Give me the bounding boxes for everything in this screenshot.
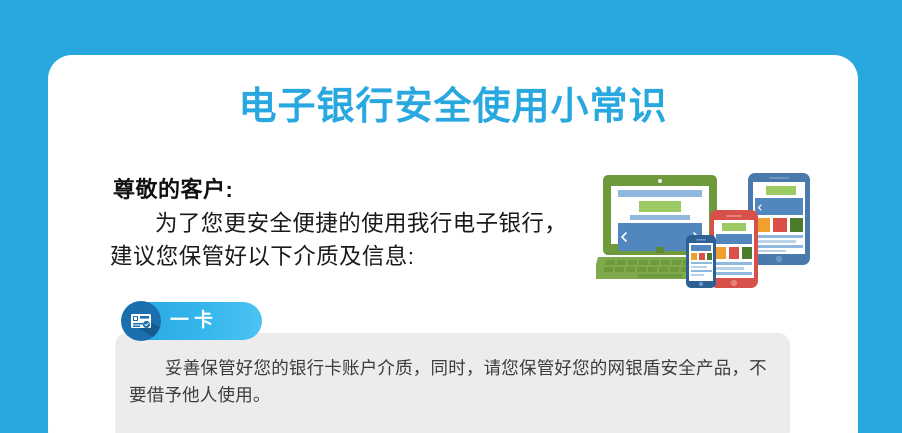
page-title: 电子银行安全使用小常识	[48, 88, 858, 126]
phone-icon	[710, 210, 758, 288]
bank-card-icon	[121, 301, 161, 341]
devices-illustration	[596, 173, 828, 291]
intro-paragraph: 为了您更安全便捷的使用我行电子银行，建议您保管好以下介质及信息:	[110, 207, 580, 274]
tip-panel: 妥善保管好您的银行卡账户介质，同时，请您保管好您的网银盾安全产品，不要借予他人使…	[115, 333, 790, 433]
content-card: 电子银行安全使用小常识 尊敬的客户: 为了您更安全便捷的使用我行电子银行，建议您…	[48, 55, 858, 433]
section-badge-card: 一卡	[122, 302, 262, 340]
tip-panel-text: 妥善保管好您的银行卡账户介质，同时，请您保管好您的网银盾安全产品，不要借予他人使…	[129, 355, 779, 409]
small-phone-icon	[686, 235, 716, 288]
section-badge-label: 一卡	[170, 302, 218, 340]
greeting-heading: 尊敬的客户:	[113, 172, 233, 204]
